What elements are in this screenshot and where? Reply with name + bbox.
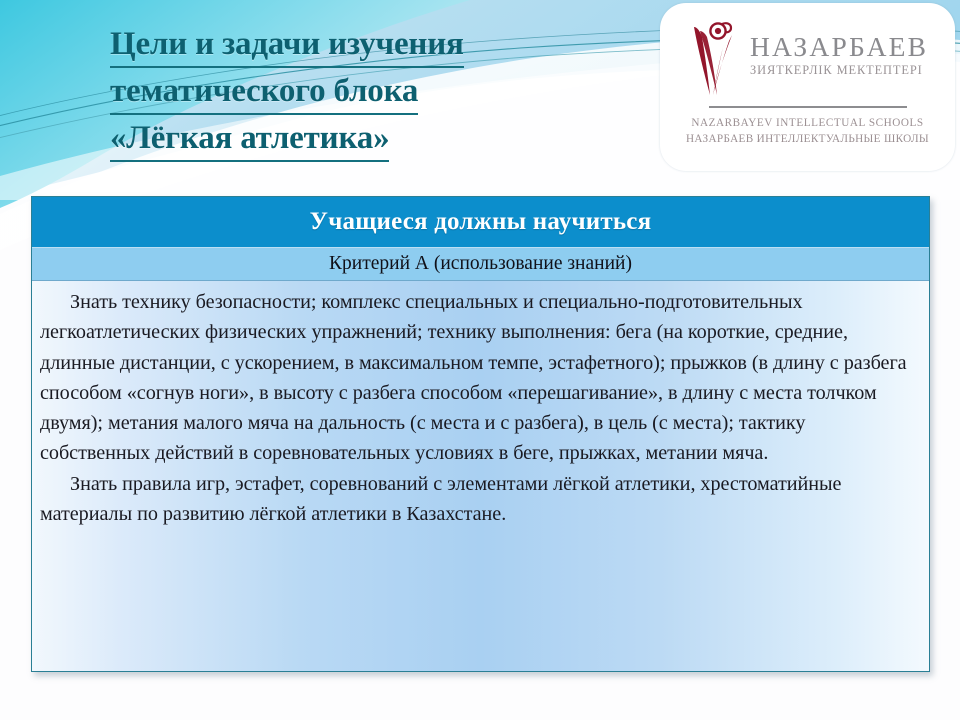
- page-title: Цели и задачи изучения тематического бло…: [110, 24, 690, 165]
- table-body-row: Знать технику безопасности; комплекс спе…: [32, 281, 929, 671]
- table-criterion-text: Критерий А (использование знаний): [329, 253, 632, 275]
- content-table: Учащиеся должны научиться Критерий А (ис…: [31, 196, 930, 672]
- title-line-2: тематического блока: [110, 71, 418, 115]
- table-header-text: Учащиеся должны научиться: [310, 208, 652, 236]
- nis-emblem-icon: [688, 21, 744, 99]
- logo-name-sub: ЗИЯТКЕРЛІК МЕКТЕПТЕРІ: [750, 63, 928, 78]
- logo-inner: НАЗАРБАЕВ ЗИЯТКЕРЛІК МЕКТЕПТЕРІ NAZARBAY…: [660, 3, 955, 171]
- nazarbayev-intellectual-schools-logo: НАЗАРБАЕВ ЗИЯТКЕРЛІК МЕКТЕПТЕРІ NAZARBAY…: [660, 3, 955, 171]
- logo-wordmark: НАЗАРБАЕВ ЗИЯТКЕРЛІК МЕКТЕПТЕРІ: [750, 19, 928, 78]
- logo-name-en: NAZARBAYEV INTELLECTUAL SCHOOLS: [674, 117, 941, 129]
- logo-name-ru: НАЗАРБАЕВ ИНТЕЛЛЕКТУАЛЬНЫЕ ШКОЛЫ: [674, 133, 941, 145]
- title-line-1: Цели и задачи изучения: [110, 24, 464, 68]
- presentation-slide: Цели и задачи изучения тематического бло…: [0, 0, 960, 720]
- logo-name-main: НАЗАРБАЕВ: [750, 33, 928, 61]
- logo-divider: [709, 106, 907, 108]
- body-paragraph-1: Знать технику безопасности; комплекс спе…: [40, 287, 919, 469]
- body-paragraph-2: Знать правила игр, эстафет, соревнований…: [40, 469, 919, 530]
- logo-top-row: НАЗАРБАЕВ ЗИЯТКЕРЛІК МЕКТЕПТЕРІ: [674, 19, 941, 99]
- table-header-row: Учащиеся должны научиться: [32, 197, 929, 248]
- title-line-3: «Лёгкая атлетика»: [110, 118, 389, 162]
- table-criterion-row: Критерий А (использование знаний): [32, 248, 929, 281]
